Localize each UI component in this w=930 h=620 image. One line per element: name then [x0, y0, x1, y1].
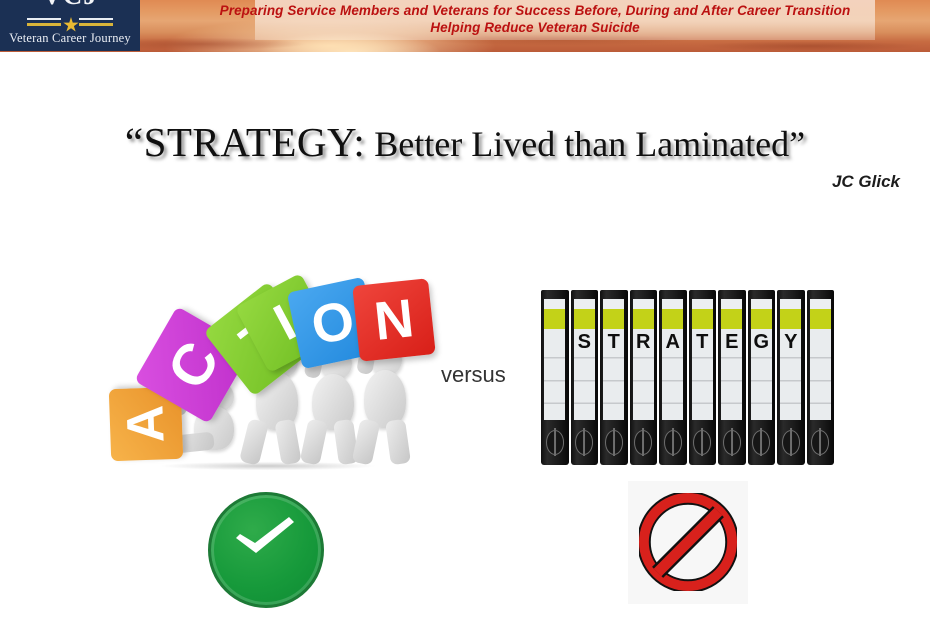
binder-top-strip [780, 299, 801, 310]
binder-letter: E [725, 331, 738, 354]
strategy-binder: E [718, 290, 746, 465]
binder-label [810, 329, 831, 420]
binder-color-band [692, 309, 713, 328]
strategy-binder: T [600, 290, 628, 465]
binder-ring-hole [546, 430, 564, 455]
binder-color-band [751, 309, 772, 328]
figure-leg [300, 418, 329, 465]
binder-ring-hole [634, 430, 652, 455]
page-title-rest: Better Lived than Laminated” [365, 124, 805, 164]
banner-tagline-line-2: Helping Reduce Veteran Suicide [430, 19, 640, 36]
binder-color-band [780, 309, 801, 328]
binder-letter: A [666, 331, 680, 354]
binder-label [544, 329, 565, 420]
prohibition-icon [639, 493, 737, 591]
binder-top-strip [603, 299, 624, 310]
binder-ring-hole [752, 430, 770, 455]
strategy-binder: Y [777, 290, 805, 465]
strategy-binder: T [689, 290, 717, 465]
green-check-icon [208, 492, 324, 608]
strategy-binder: A [659, 290, 687, 465]
binder-label: T [603, 329, 624, 420]
binder-top-strip [574, 299, 595, 310]
binder-top-strip [751, 299, 772, 310]
title-attribution: JC Glick [0, 172, 900, 192]
logo-bar-left-top [27, 18, 61, 20]
binder-top-strip [810, 299, 831, 310]
binder-color-band [721, 309, 742, 328]
binder-color-band [603, 309, 624, 328]
veteran-career-journey-logo[interactable]: VCJ Veteran Career Journey [0, 0, 140, 51]
binder-color-band [633, 309, 654, 328]
binder-letter: R [636, 331, 650, 354]
versus-label: versus [441, 362, 506, 388]
binder-ring-hole [605, 430, 623, 455]
page-title-emphasis: “STRATEGY: [125, 119, 365, 165]
binder-color-band [810, 309, 831, 328]
strategy-binder: R [630, 290, 658, 465]
binder-color-band [544, 309, 565, 328]
logo-bars [27, 18, 113, 32]
page-title: “STRATEGY: Better Lived than Laminated” [0, 118, 930, 166]
logo-initials: VCJ [0, 0, 140, 9]
binder-top-strip [721, 299, 742, 310]
prohibition-icon-backdrop [628, 481, 748, 604]
binder-letter: Y [784, 331, 797, 354]
action-cube-n: N [352, 278, 436, 362]
binder-label: E [721, 329, 742, 420]
binder-letter: T [608, 331, 620, 354]
action-cube-letter: O [306, 288, 360, 357]
logo-bar-right-top [79, 18, 113, 20]
binder-label: A [662, 329, 683, 420]
binder-ring-hole [693, 430, 711, 455]
strategy-binder [807, 290, 835, 465]
binder-color-band [662, 309, 683, 328]
strategy-binders-illustration: STRATEGY [541, 290, 834, 465]
binder-ring-hole [811, 430, 829, 455]
binder-label: Y [780, 329, 801, 420]
binder-top-strip [692, 299, 713, 310]
banner-tagline-group: Preparing Service Members and Veterans f… [140, 0, 930, 52]
binder-color-band [574, 309, 595, 328]
illustration-ground-shadow [118, 460, 418, 472]
figure-leg [385, 419, 411, 465]
check-mark-glyph [236, 517, 294, 553]
binder-ring-hole [575, 430, 593, 455]
banner-tagline-line-1: Preparing Service Members and Veterans f… [220, 2, 851, 19]
binder-top-strip [633, 299, 654, 310]
figure-leg [274, 419, 301, 466]
binder-label: S [574, 329, 595, 420]
binder-ring-hole [723, 430, 741, 455]
strategy-binder [541, 290, 569, 465]
binder-top-strip [544, 299, 565, 310]
logo-organization-name: Veteran Career Journey [0, 31, 140, 46]
binder-label: G [751, 329, 772, 420]
strategy-binder: S [571, 290, 599, 465]
action-cube-letter: N [371, 287, 416, 353]
binder-label: T [692, 329, 713, 420]
action-cube-letter: A [115, 404, 176, 444]
figure-leg [352, 418, 381, 465]
action-illustration: A C T I O N [108, 282, 428, 472]
binder-ring-hole [782, 430, 800, 455]
strategy-binder: G [748, 290, 776, 465]
logo-bar-right-bottom [79, 23, 113, 26]
binder-ring-hole [664, 430, 682, 455]
binder-label: R [633, 329, 654, 420]
logo-bar-left-bottom [27, 23, 61, 26]
binder-top-strip [662, 299, 683, 310]
figure-leg [239, 418, 269, 466]
binder-letter: T [696, 331, 708, 354]
binder-letter: S [578, 331, 591, 354]
binder-letter: G [753, 331, 769, 354]
